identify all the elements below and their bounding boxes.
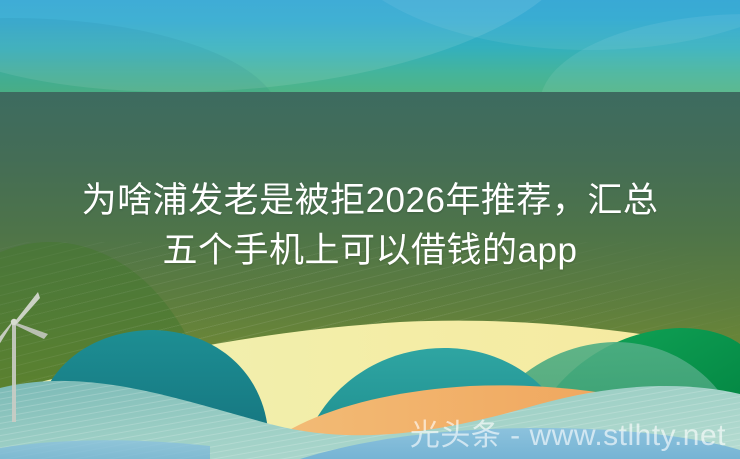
headline-line-1: 为啥浦发老是被拒2026年推荐，汇总 <box>82 181 659 220</box>
headline-title: 为啥浦发老是被拒2026年推荐，汇总五个手机上可以借钱的app <box>0 176 740 276</box>
site-watermark: 光头条 - www.stlhty.net <box>0 418 740 454</box>
watermark-text: 光头条 - www.stlhty.net <box>410 418 732 454</box>
cover-banner: 为啥浦发老是被拒2026年推荐，汇总五个手机上可以借钱的app 光头条 - ww… <box>0 0 740 459</box>
headline-line-2: 五个手机上可以借钱的app <box>163 231 578 270</box>
